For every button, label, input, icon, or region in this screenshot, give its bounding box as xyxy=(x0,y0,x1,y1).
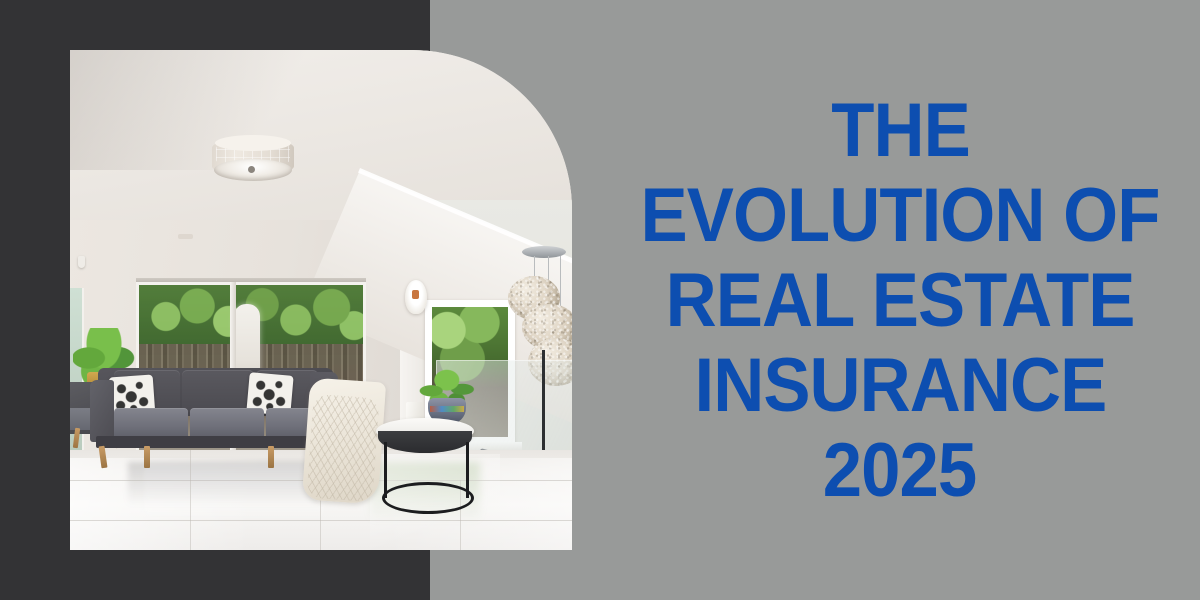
interior-photo xyxy=(70,50,572,550)
wall-ornament-detail xyxy=(412,290,419,299)
headline-line-1: THE xyxy=(831,88,970,173)
plant-pot-pattern xyxy=(430,406,464,412)
sofa-arm-left xyxy=(90,380,114,442)
poster-canvas: THE EVOLUTION OF REAL ESTATE INSURANCE 2… xyxy=(0,0,1200,600)
ceiling-vent xyxy=(178,234,193,239)
headline-line-4: INSURANCE xyxy=(694,343,1106,428)
interior-photo-scene xyxy=(70,50,572,550)
headline-line-2: EVOLUTION OF xyxy=(641,173,1160,258)
sofa-leg xyxy=(268,446,274,468)
sofa-base xyxy=(96,436,338,448)
throw-blanket-knit-texture xyxy=(306,394,379,502)
sofa-leg xyxy=(144,446,150,468)
wall-sensor xyxy=(78,256,85,268)
sofa-back-cushion xyxy=(182,370,254,412)
headline-block: THE EVOLUTION OF REAL ESTATE INSURANCE 2… xyxy=(600,0,1200,600)
floor-reflection-sofa xyxy=(128,462,318,506)
drum-shade-top xyxy=(215,135,291,151)
drum-ceiling-light-icon xyxy=(212,132,294,184)
headline-line-3: REAL ESTATE xyxy=(666,258,1135,343)
drum-bulb xyxy=(248,166,255,173)
tile-grout-line xyxy=(190,450,191,550)
side-table-base-ring xyxy=(382,482,474,514)
headline-line-5: 2025 xyxy=(823,428,977,513)
